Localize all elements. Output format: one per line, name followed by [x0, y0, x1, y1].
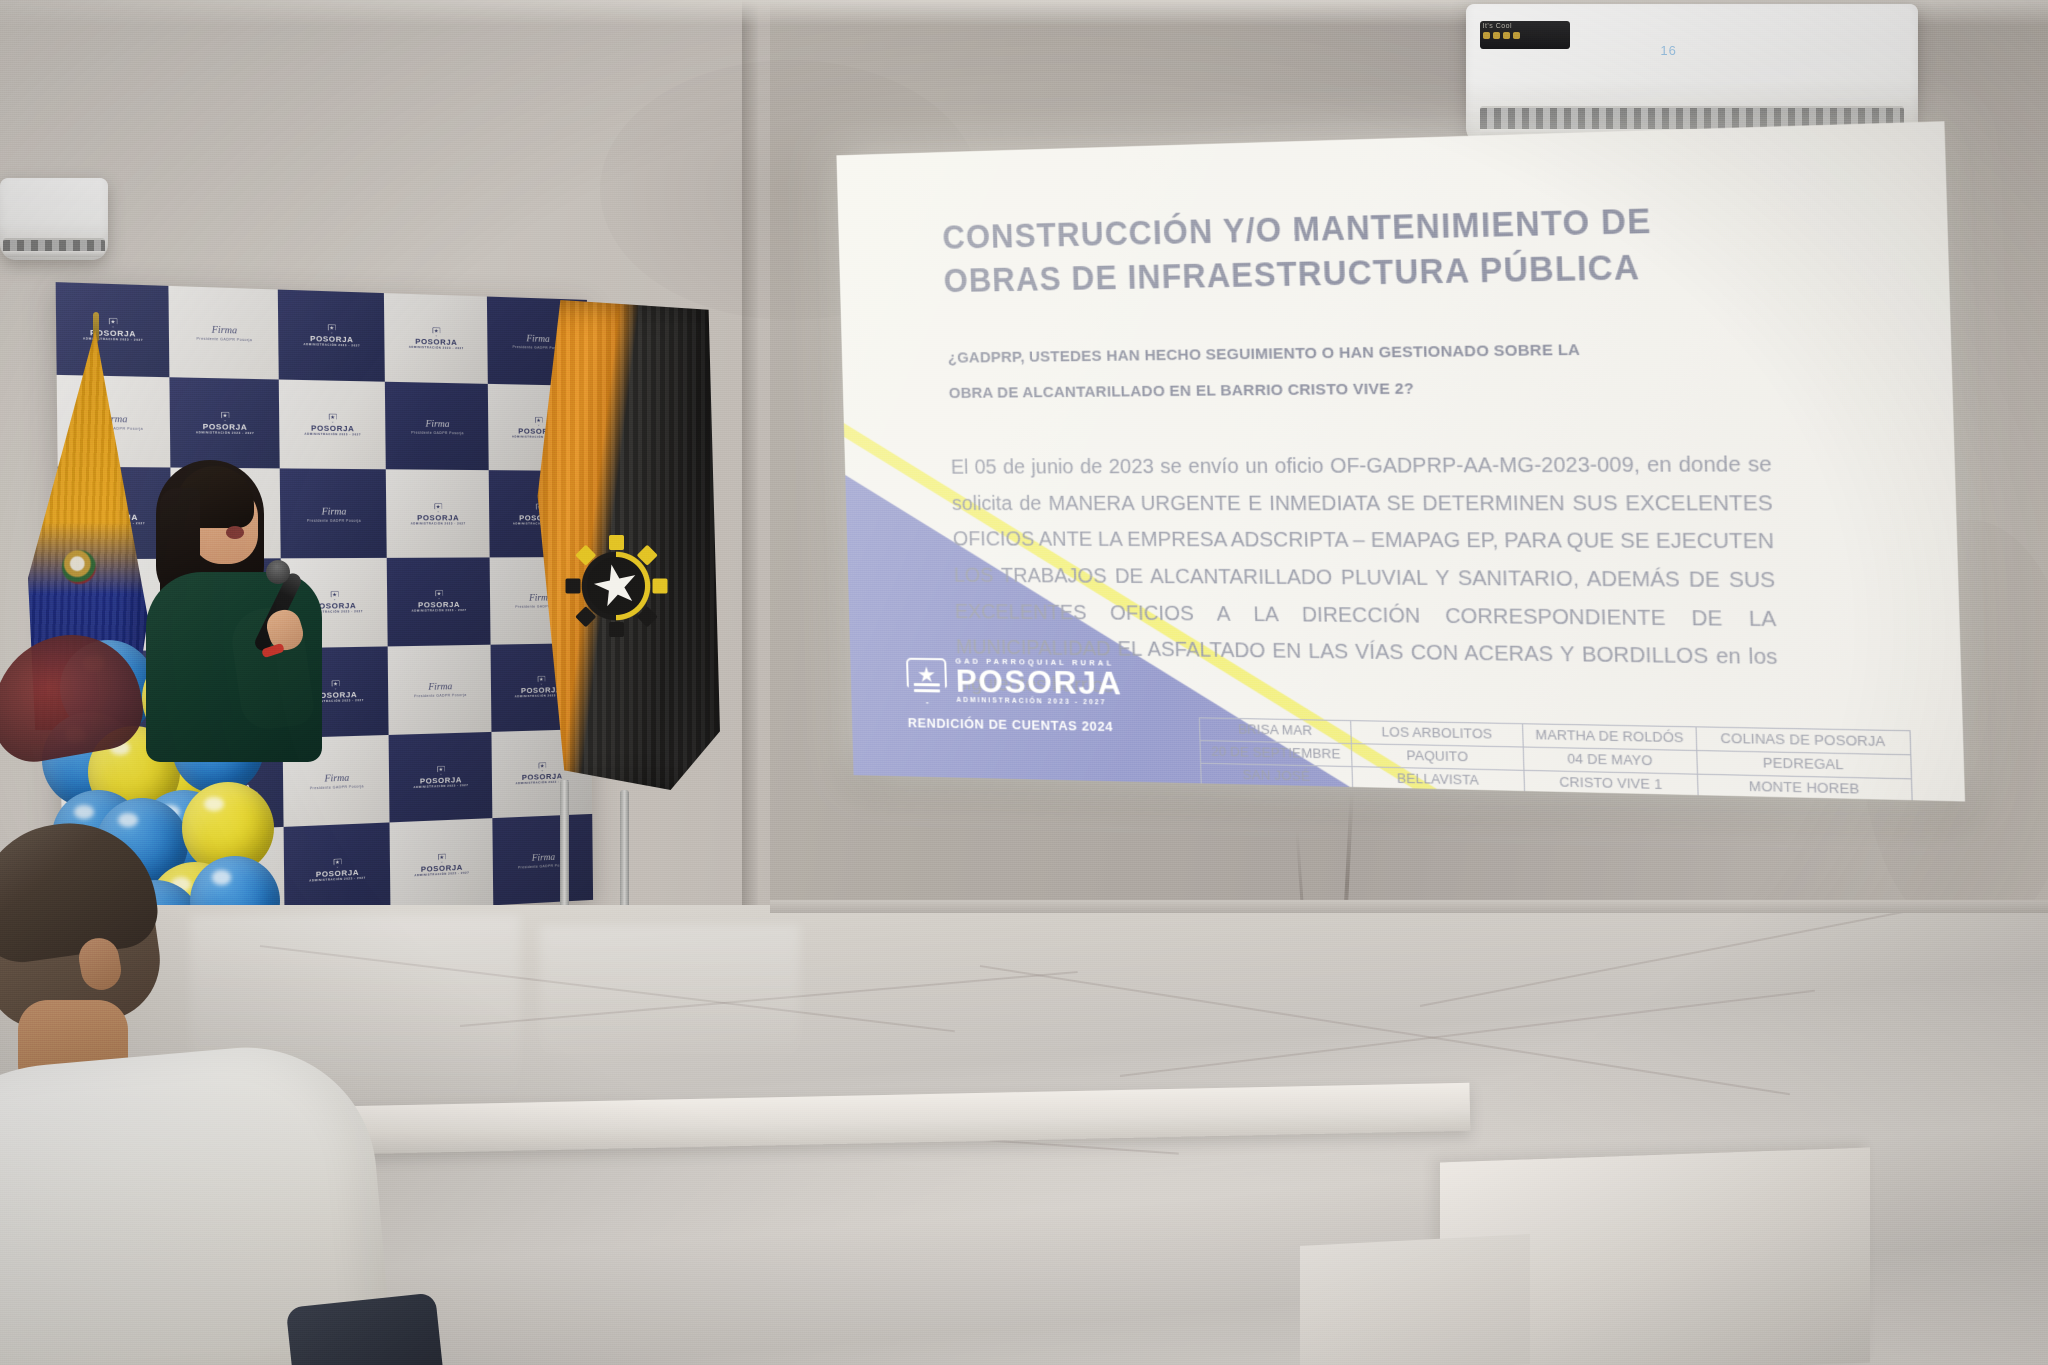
shield-star-icon — [432, 328, 440, 337]
ecuador-coat-of-arms-icon — [62, 550, 96, 584]
slide-logo-name: POSORJA — [955, 666, 1122, 700]
slide-logo-block: GAD PARROQUIAL RURAL POSORJA ADMINISTRAC… — [906, 657, 1124, 735]
backdrop-tile: POSORJAADMINISTRACIÓN 2023 - 2027 — [279, 379, 386, 470]
backdrop-logo: POSORJAADMINISTRACIÓN 2023 - 2027 — [409, 327, 464, 350]
backdrop-tile: FirmaPresidente GADPR Posorja — [385, 381, 489, 470]
ac-brand-text: It's Cool — [1480, 21, 1570, 32]
air-conditioner-right: It's Cool 16 — [1466, 4, 1918, 144]
table-cell: BRISA MAR — [1199, 718, 1351, 744]
ac-vent-lip — [3, 251, 105, 257]
backdrop-signature: FirmaPresidente GADPR Posorja — [411, 417, 464, 435]
wall-baseboard — [770, 900, 2048, 913]
backdrop-logo: POSORJAADMINISTRACIÓN 2023 - 2027 — [414, 852, 469, 877]
presenter-mouth — [226, 526, 244, 539]
air-conditioner-left — [0, 178, 108, 260]
seated-attendee — [0, 830, 380, 1365]
shield-star-icon — [906, 657, 947, 704]
backdrop-tile: POSORJAADMINISTRACIÓN 2023 - 2027 — [169, 377, 279, 469]
backdrop-logo: POSORJAADMINISTRACIÓN 2023 - 2027 — [304, 413, 361, 436]
photo-scene: It's Cool 16 CONSTRUCCIÓN Y/O MANTENIMIE… — [0, 0, 2048, 1365]
slide-logo-admin: ADMINISTRACIÓN 2023 - 2027 — [956, 698, 1123, 708]
posorja-parish-flag — [530, 300, 720, 790]
backdrop-signature: FirmaPresidente GADPR Posorja — [196, 323, 252, 342]
table-cell: LOS ARBOLITOS — [1351, 721, 1524, 747]
ac-brand-label: It's Cool — [1480, 21, 1570, 49]
backdrop-logo: POSORJAADMINISTRACIÓN 2023 - 2027 — [410, 503, 465, 525]
backdrop-tile: POSORJAADMINISTRACIÓN 2023 - 2027 — [386, 470, 490, 558]
backdrop-logo: POSORJAADMINISTRACIÓN 2023 - 2027 — [413, 765, 468, 789]
flag-stand-pole — [560, 780, 569, 920]
projection-screen: CONSTRUCCIÓN Y/O MANTENIMIENTO DE OBRAS … — [836, 121, 1965, 801]
shield-star-icon — [329, 414, 337, 423]
backdrop-tile: POSORJAADMINISTRACIÓN 2023 - 2027 — [390, 818, 494, 911]
shield-star-icon — [434, 503, 442, 512]
shield-star-icon — [221, 412, 229, 421]
backdrop-tile: FirmaPresidente GADPR Posorja — [388, 645, 492, 735]
ac-mode-icons — [1480, 32, 1570, 39]
slide-logo-text: GAD PARROQUIAL RURAL POSORJA ADMINISTRAC… — [955, 657, 1123, 707]
backdrop-tile: POSORJAADMINISTRACIÓN 2023 - 2027 — [384, 293, 488, 383]
backdrop-tile: FirmaPresidente GADPR Posorja — [168, 286, 278, 379]
stage-platform-block — [1300, 1234, 1530, 1365]
ac-display: 16 — [1660, 43, 1676, 58]
presenter-speaker — [140, 460, 350, 750]
slide-question: ¿GADPRP, USTEDES HAN HECHO SEGUIMIENTO O… — [947, 332, 1617, 412]
backdrop-tile: FirmaPresidente GADPR Posorja — [492, 814, 593, 905]
backdrop-logo: POSORJAADMINISTRACIÓN 2023 - 2027 — [303, 324, 360, 348]
shield-star-icon — [109, 318, 118, 328]
shield-star-icon — [437, 766, 445, 775]
table-cell: MARTHA DE ROLDÓS — [1523, 724, 1697, 751]
presentation-slide: CONSTRUCCIÓN Y/O MANTENIMIENTO DE OBRAS … — [836, 121, 1965, 801]
backdrop-logo: POSORJAADMINISTRACIÓN 2023 - 2027 — [196, 411, 255, 434]
shield-star-icon — [328, 325, 336, 334]
slide-logo-row: GAD PARROQUIAL RURAL POSORJA ADMINISTRAC… — [906, 657, 1123, 708]
shield-star-icon — [438, 853, 446, 862]
backdrop-tile: POSORJAADMINISTRACIÓN 2023 - 2027 — [278, 290, 385, 382]
flag-stand-pole — [620, 790, 629, 920]
backdrop-logo: POSORJAADMINISTRACIÓN 2023 - 2027 — [411, 590, 466, 613]
backdrop-tile: POSORJAADMINISTRACIÓN 2023 - 2027 — [387, 558, 491, 647]
table-cell: 20 DE SEPTIEMBRE — [1200, 740, 1352, 766]
shield-star-icon — [435, 591, 443, 600]
backdrop-tile: POSORJAADMINISTRACIÓN 2023 - 2027 — [389, 731, 493, 822]
gear-star-emblem-icon — [568, 538, 664, 634]
backdrop-signature: FirmaPresidente GADPR Posorja — [414, 680, 467, 698]
slide-title: CONSTRUCCIÓN Y/O MANTENIMIENTO DE OBRAS … — [942, 197, 1714, 303]
